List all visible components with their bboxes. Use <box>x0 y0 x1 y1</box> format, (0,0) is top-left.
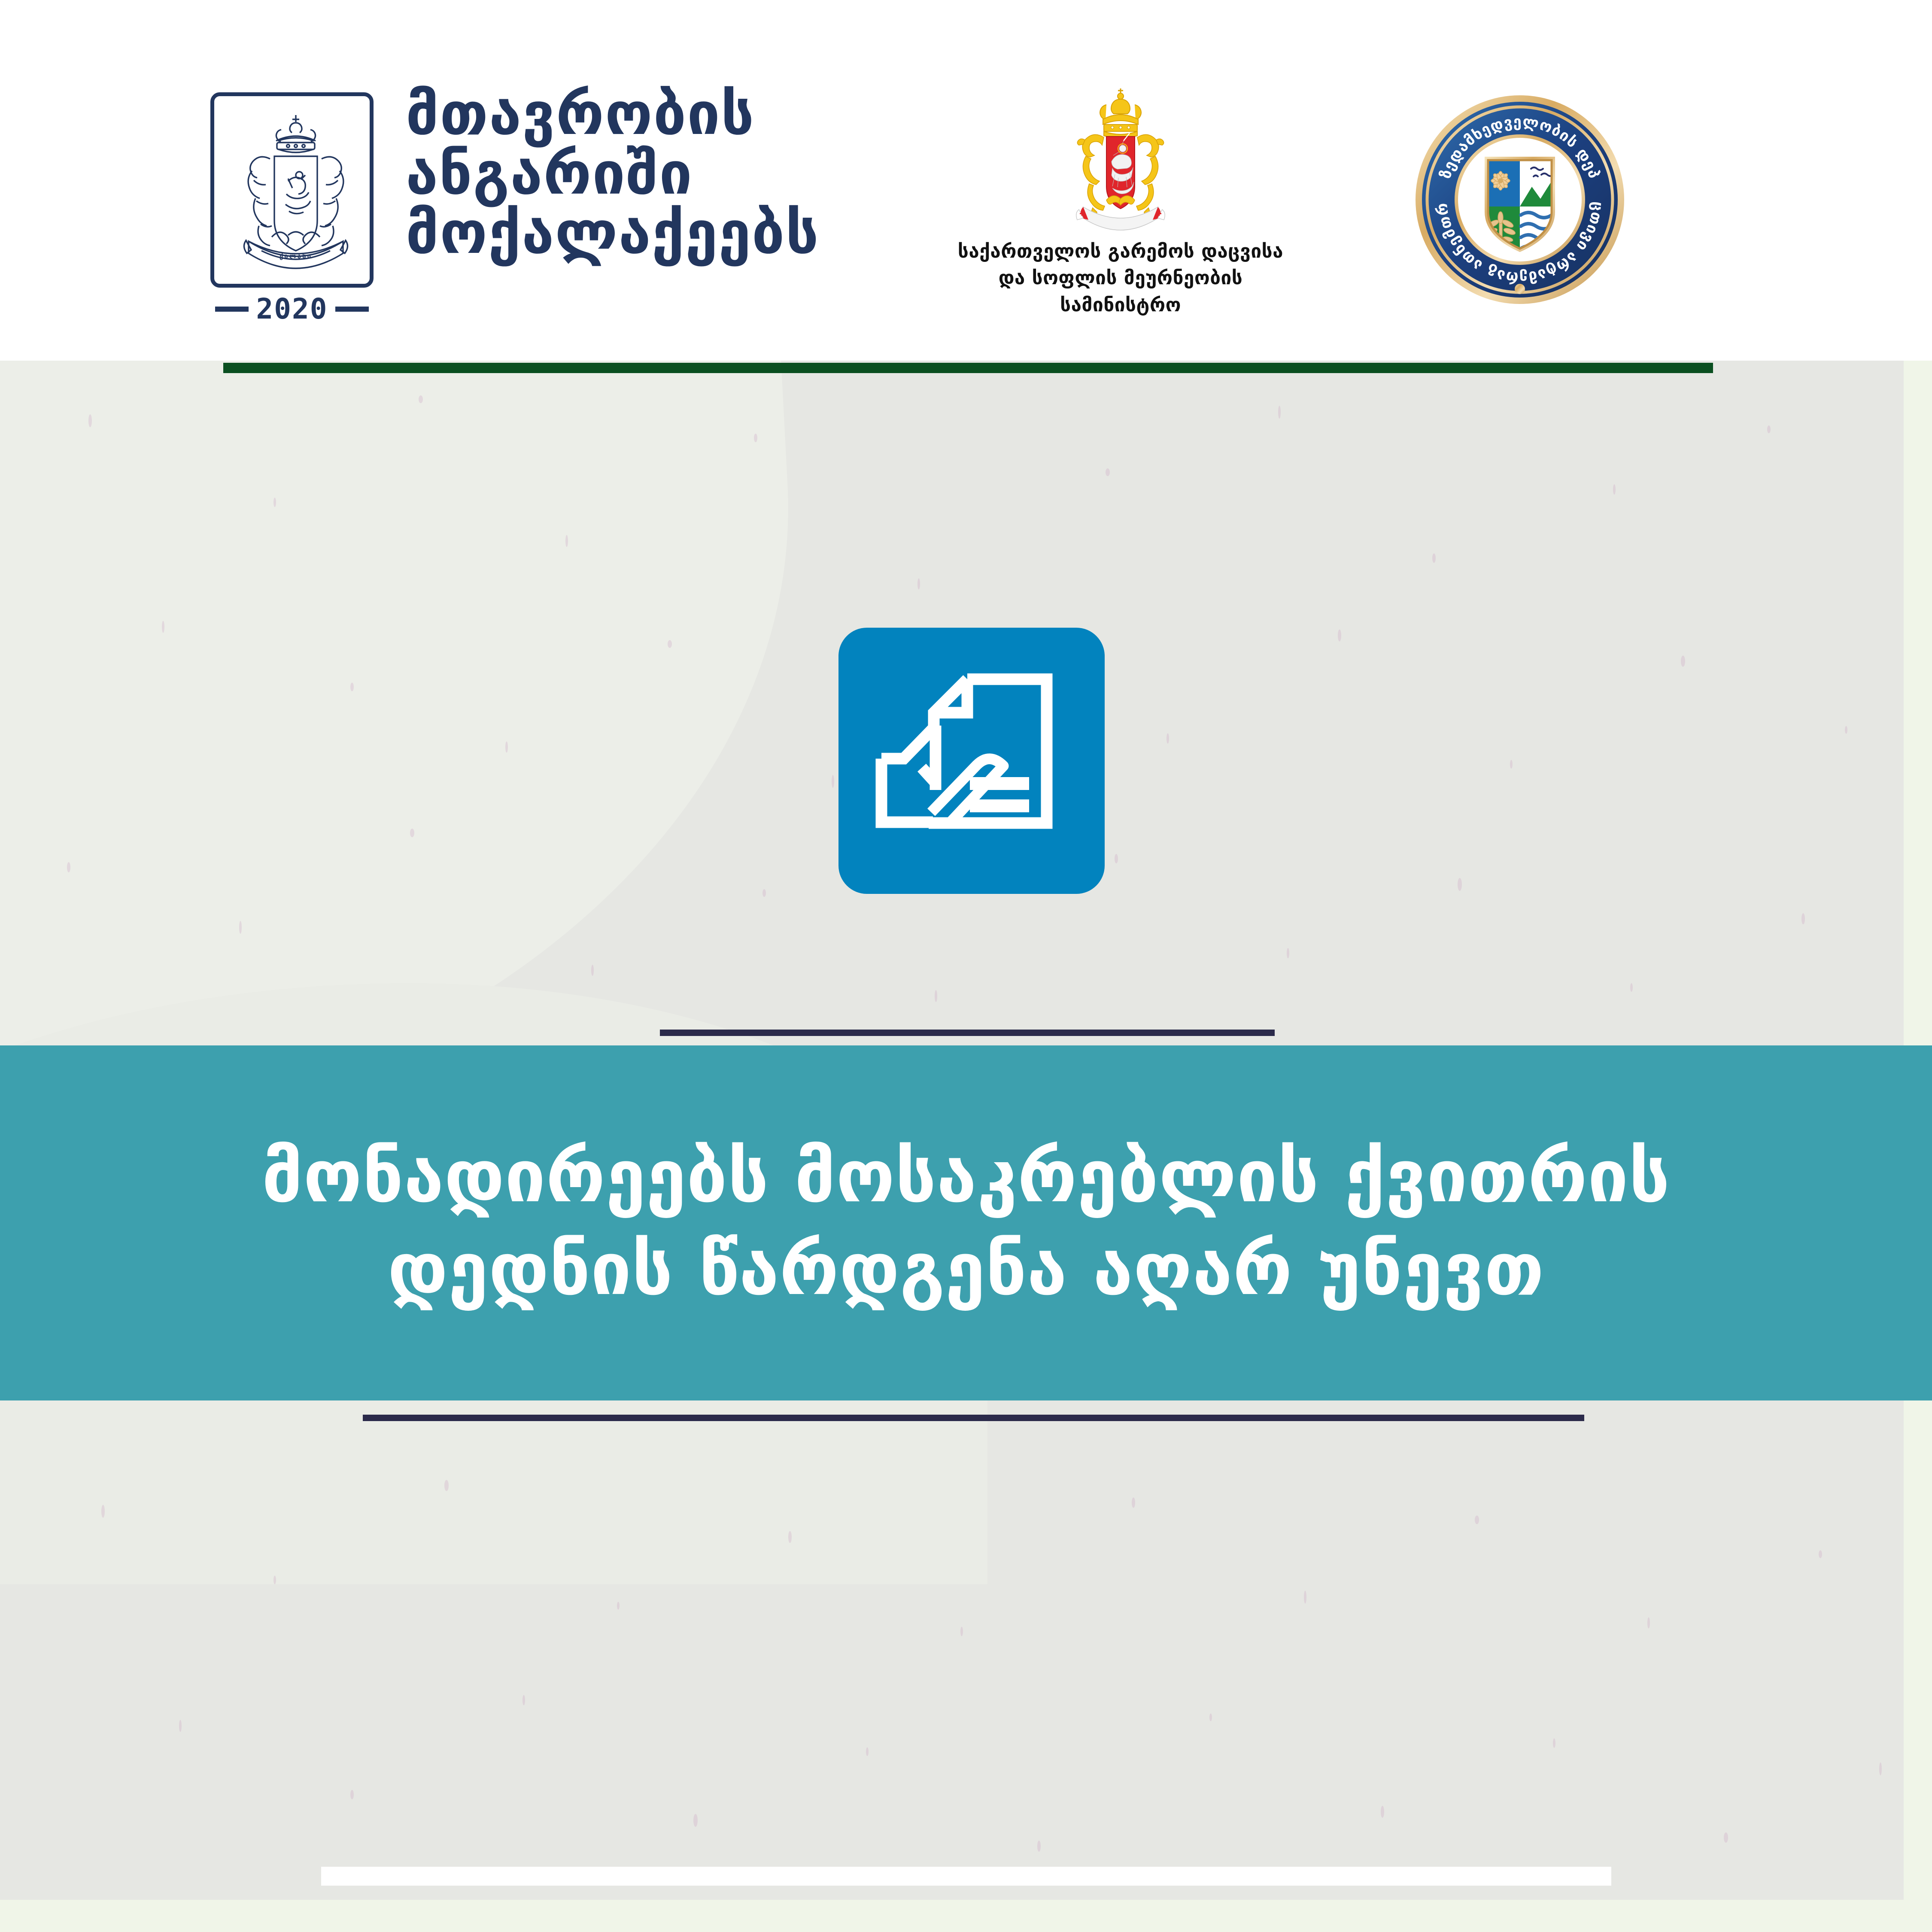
georgia-coat-of-arms-color-icon <box>1058 86 1183 232</box>
document-sign-glyph <box>838 628 1105 894</box>
ministry-name-line-1: საქართველოს გარემოს დაცვისა <box>940 238 1301 265</box>
government-report-2020-logo: ქალასი 2020 მთავრობის ანგარიში მოქალაქეე… <box>210 92 833 298</box>
logo-year: 2020 <box>256 295 328 323</box>
environment-agency-seal: ზედამხედველობის დეპ ბეცთივი არტამერაგ ათ… <box>1413 92 1627 307</box>
divider-rule-above-title <box>660 1030 1275 1036</box>
logo-word-3: მოქალაქეებს <box>406 204 835 263</box>
logo-year-block: 2020 <box>206 294 378 324</box>
ministry-name-line-2: და სოფლის მეურნეობის სამინისტრო <box>940 265 1301 319</box>
year-dash-left <box>215 307 249 312</box>
document-signature-icon <box>838 628 1105 894</box>
georgia-coat-of-arms-outline-icon: ქალასი <box>224 108 368 279</box>
ministry-logo: საქართველოს გარემოს დაცვისა და სოფლის მე… <box>940 86 1301 313</box>
year-dash-right <box>335 307 369 312</box>
logo-word-1: მთავრობის <box>406 85 835 144</box>
svg-text:ქალასი: ქალასი <box>279 252 312 260</box>
agency-seal-icon: ზედამხედველობის დეპ ბეცთივი არტამერაგ ათ… <box>1413 92 1627 307</box>
page-title-line-1: მონადირეებს მოსაკრებლის ქვითრის <box>262 1130 1670 1223</box>
green-divider-bar <box>223 363 1713 373</box>
logo-wordmark: მთავრობის ანგარიში მოქალაქეებს <box>406 85 835 263</box>
logo-word-2: ანგარიში <box>406 144 835 204</box>
logo-row: ქალასი 2020 მთავრობის ანგარიში მოქალაქეე… <box>0 0 1932 361</box>
bottom-paper-strip <box>0 1900 1932 1932</box>
title-banner: მონადირეებს მოსაკრებლის ქვითრის დედნის წ… <box>0 1045 1932 1400</box>
page-title: მონადირეებს მოსაკრებლის ქვითრის დედნის წ… <box>185 1130 1747 1315</box>
header-bar: ქალასი 2020 მთავრობის ანგარიში მოქალაქეე… <box>0 0 1932 361</box>
divider-rule-below-title <box>363 1415 1584 1421</box>
footer-white-rule <box>321 1867 1611 1886</box>
page-title-line-2: დედნის წარდგენა აღარ უნევთ <box>262 1223 1670 1315</box>
crest-frame: ქალასი <box>210 92 374 288</box>
ministry-name: საქართველოს გარემოს დაცვისა და სოფლის მე… <box>940 238 1301 319</box>
